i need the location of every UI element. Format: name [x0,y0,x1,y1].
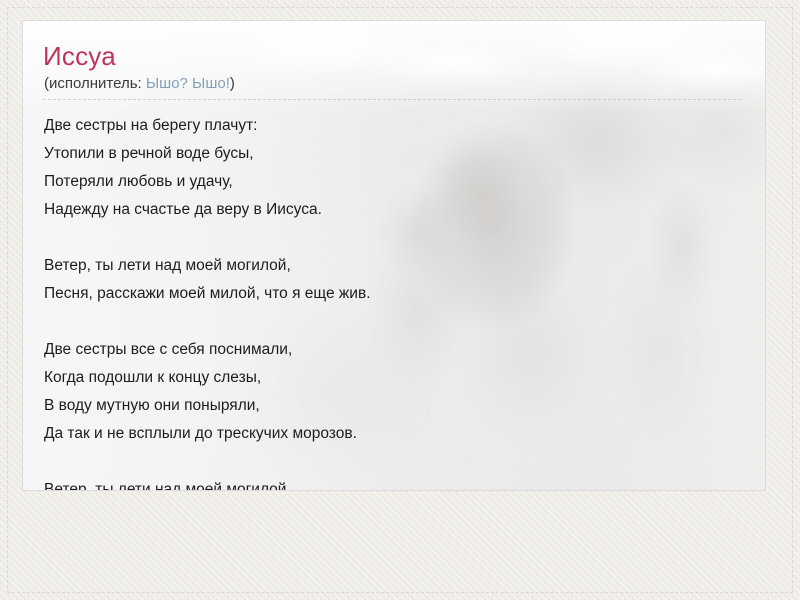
lyrics-stanza: Ветер, ты лети над моей могилой, Песня, … [44,476,741,491]
lyric-line: Песня, расскажи моей милой, что я еще жи… [44,280,741,308]
slide-header: Иссуа (исполнитель: Ышо? Ышо!) [43,41,741,100]
lyric-line: Утопили в речной воде бусы, [44,140,741,168]
lyrics-body: Две сестры на берегу плачут: Утопили в р… [44,112,741,491]
lyric-line: Две сестры все с себя поснимали, [44,336,741,364]
artist-label-prefix: (исполнитель: [44,75,146,92]
lyrics-stanza: Ветер, ты лети над моей могилой, Песня, … [44,252,741,308]
lyric-line: Ветер, ты лети над моей могилой, [44,252,741,280]
slide-content: Иссуа (исполнитель: Ышо? Ышо!) Две сестр… [23,21,765,491]
lyric-line: Потеряли любовь и удачу, [44,168,741,196]
lyric-line: Две сестры на берегу плачут: [44,112,741,140]
artist-link[interactable]: Ышо? Ышо! [146,75,230,92]
lyric-line: Когда подошли к концу слезы, [44,364,741,392]
lyrics-stanza: Две сестры на берегу плачут: Утопили в р… [44,112,741,224]
artist-line: (исполнитель: Ышо? Ышо!) [44,74,741,94]
lyric-line: Да так и не всплыли до трескучих морозов… [44,420,741,448]
header-divider [43,99,741,100]
song-title: Иссуа [43,41,741,71]
slide-panel: Иссуа (исполнитель: Ышо? Ышо!) Две сестр… [22,20,766,491]
lyrics-stanza: Две сестры все с себя поснимали, Когда п… [44,336,741,448]
lyric-line: В воду мутную они поныряли, [44,392,741,420]
lyric-line: Ветер, ты лети над моей могилой, [44,476,741,491]
artist-label-suffix: ) [230,75,235,92]
lyric-line: Надежду на счастье да веру в Иисуса. [44,196,741,224]
